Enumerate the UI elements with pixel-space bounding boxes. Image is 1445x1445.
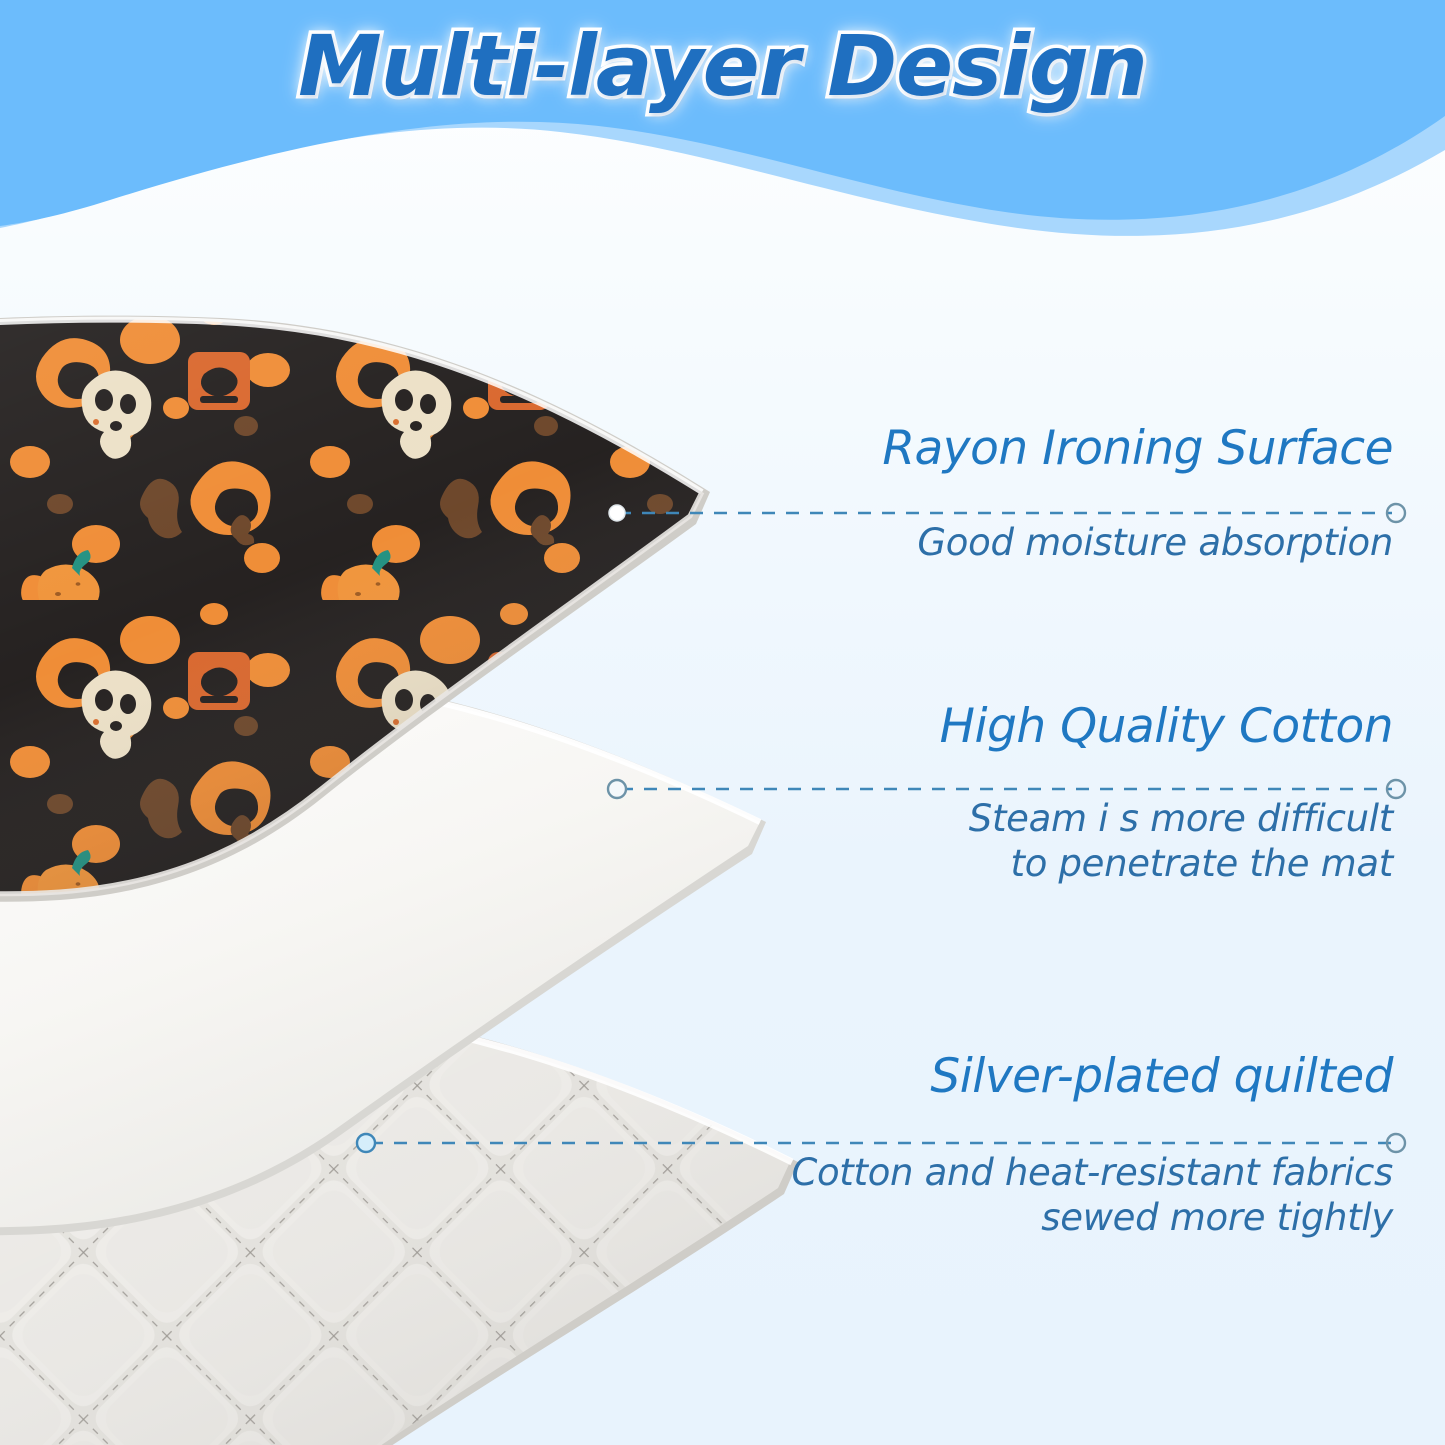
callout-subtext-line: to penetrate the mat: [773, 841, 1393, 886]
callout-high-quality-cotton: High Quality Cotton Steam i s more diffi…: [773, 702, 1393, 886]
callout-subtext: Good moisture absorption: [773, 520, 1393, 565]
callout-subtext-line: Cotton and heat-resistant fabrics: [773, 1150, 1393, 1195]
callout-subtext: Cotton and heat-resistant fabrics sewed …: [773, 1150, 1393, 1240]
infographic-canvas: Multi-layer Design Ray: [0, 0, 1445, 1445]
page-title: Multi-layer Design: [0, 22, 1445, 110]
callout-silver-plated-quilted: Silver-plated quilted Cotton and heat-re…: [773, 1052, 1393, 1240]
callout-headline: Rayon Ironing Surface: [773, 424, 1393, 474]
callout-headline: High Quality Cotton: [773, 702, 1393, 752]
callout-subtext-line: sewed more tightly: [773, 1195, 1393, 1240]
callout-subtext-line: Steam i s more difficult: [773, 796, 1393, 841]
callout-subtext-line: Good moisture absorption: [773, 520, 1393, 565]
header-band: Multi-layer Design: [0, 0, 1445, 260]
callout-rayon-ironing-surface: Rayon Ironing Surface Good moisture abso…: [773, 424, 1393, 565]
callout-headline: Silver-plated quilted: [773, 1052, 1393, 1102]
callout-subtext: Steam i s more difficult to penetrate th…: [773, 796, 1393, 886]
